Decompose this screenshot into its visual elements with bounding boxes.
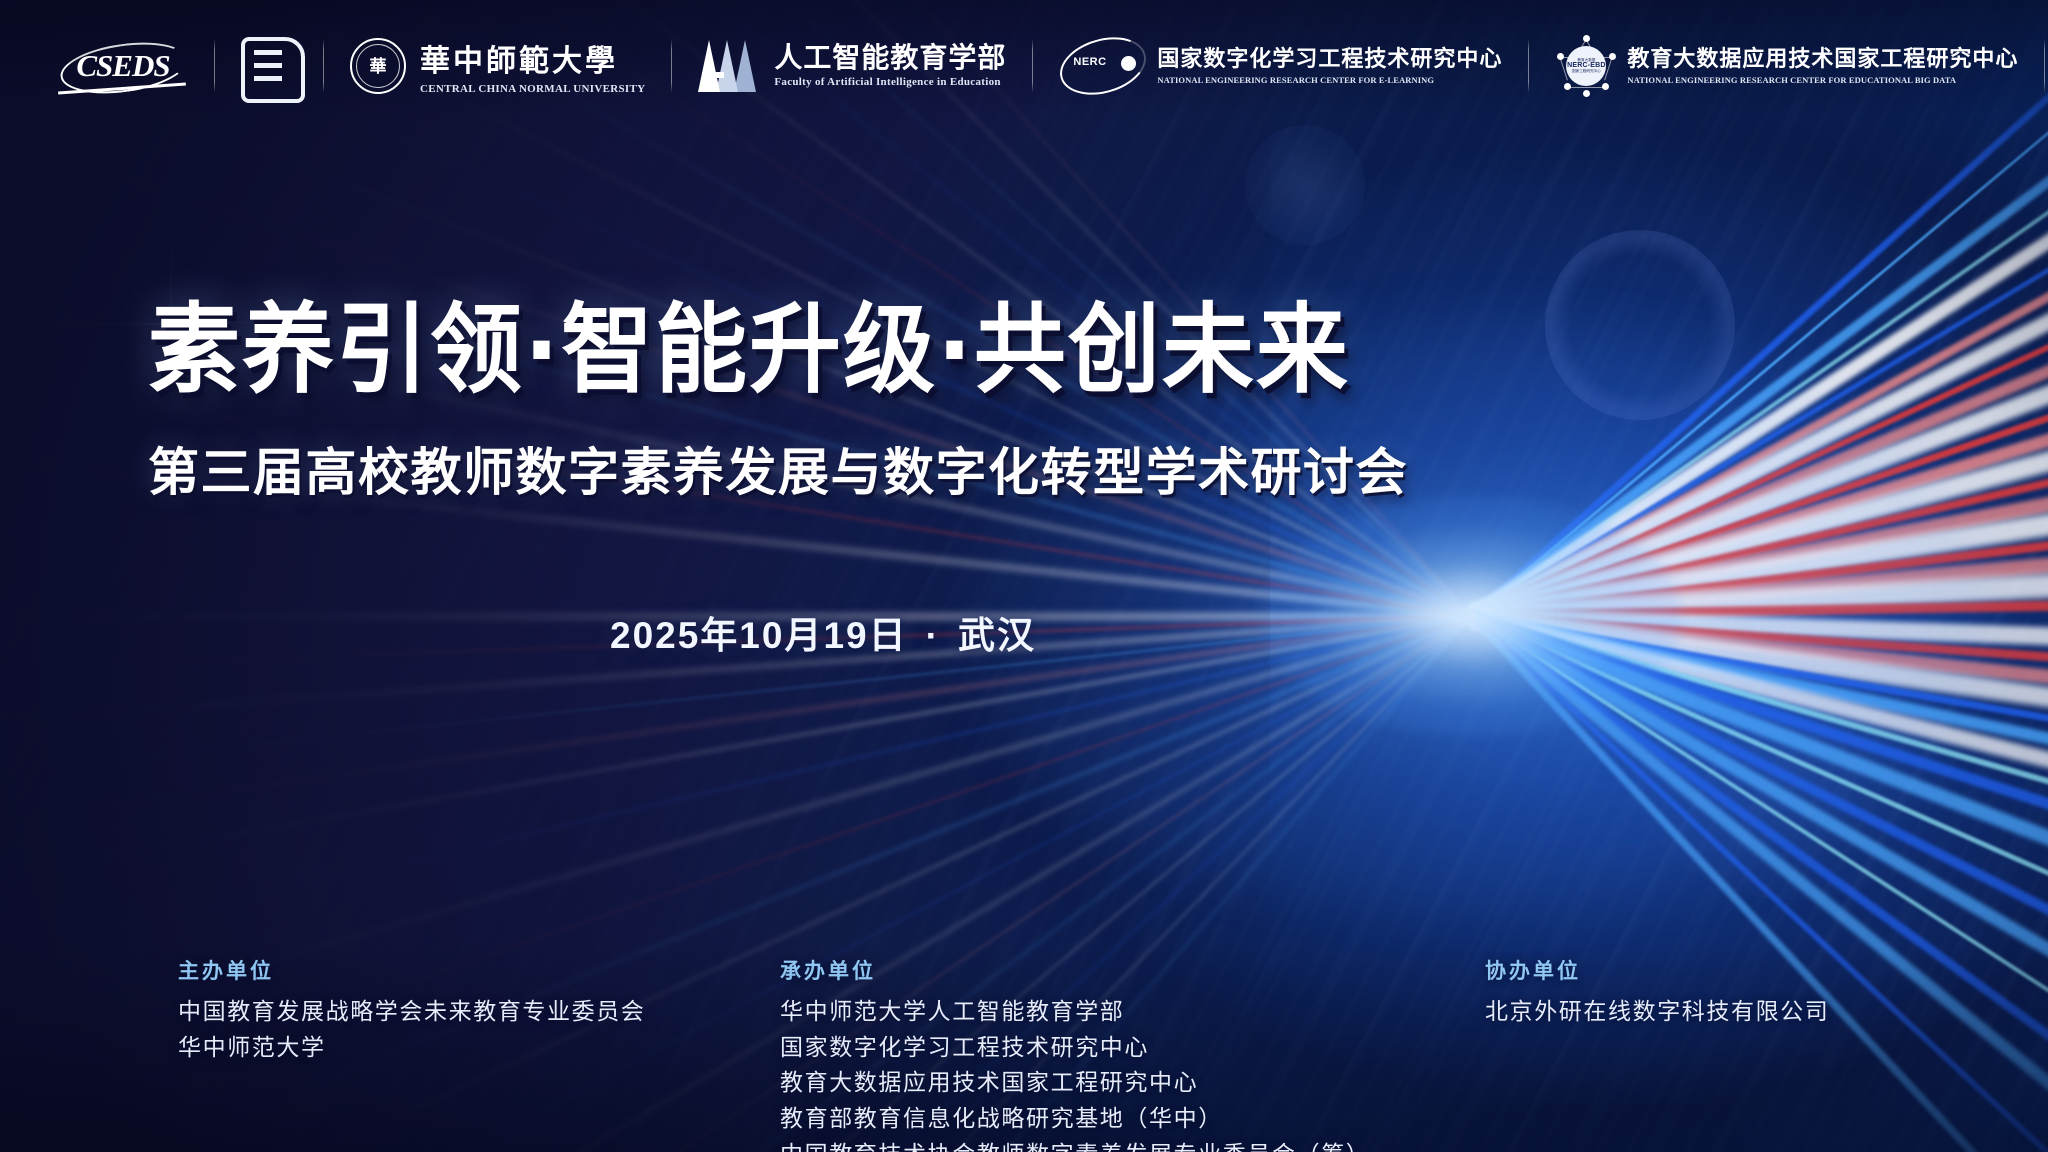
host-organization-block: 主办单位 中国教育发展战略学会未来教育专业委员会 华中师范大学	[178, 955, 645, 1065]
nerc-ebd-name-cn: 教育大数据应用技术国家工程研究中心	[1627, 47, 2018, 71]
logo-divider	[671, 39, 672, 93]
cseds-wordmark-text: CSEDS	[76, 48, 169, 84]
sponsor-logo-bar: CSEDS 華 華中師範大學 CENTRAL CHINA NORMAL UNIV…	[0, 0, 2048, 132]
logo-cseds: CSEDS	[58, 38, 188, 94]
organizer-label: 承办单位	[780, 955, 1370, 985]
nerco-name-en: NATIONAL ENGINEERING RESEARCH CENTER FOR…	[1157, 75, 1502, 85]
organizer-line: 国家数字化学习工程技术研究中心	[780, 1030, 1370, 1066]
nerc-ebd-mark-sub-bottom: 国家工程研究中心	[1572, 70, 1601, 74]
nerc-ebd-name-en: NATIONAL ENGINEERING RESEARCH CENTER FOR…	[1627, 75, 2018, 85]
host-line: 华中师范大学	[178, 1030, 645, 1066]
faie-name-cn: 人工智能教育学部	[774, 43, 1006, 74]
organizer-block: 承办单位 华中师范大学人工智能教育学部 国家数字化学习工程技术研究中心 教育大数…	[780, 955, 1370, 1152]
fei-bracket-icon	[241, 37, 297, 95]
headline-block: 素养引领·智能升级·共创未来 第三届高校教师数字素养发展与数字化转型学术研讨会	[148, 300, 1408, 505]
organizer-line: 教育大数据应用技术国家工程研究中心	[780, 1065, 1370, 1101]
organizer-line: 教育部教育信息化战略研究基地（华中）	[780, 1101, 1370, 1137]
logo-nerc-ebd: 教育大数据 NERC-EBD 国家工程研究中心 教育大数据应用技术国家工程研究中…	[1555, 35, 2018, 97]
event-date-location: 2025年10月19日·武汉	[610, 605, 1036, 659]
event-separator: ·	[926, 615, 940, 656]
logo-divider	[2044, 39, 2045, 93]
coorganizer-line: 北京外研在线数字科技有限公司	[1485, 994, 1829, 1030]
cseds-wordmark-icon: CSEDS	[58, 38, 188, 94]
coorganizer-label: 协办单位	[1485, 955, 1829, 985]
nerco-ellipse-icon: NERC	[1059, 39, 1147, 93]
ccnu-name-cn: 華中師範大學	[420, 36, 645, 80]
nerco-name-cn: 国家数字化学习工程技术研究中心	[1157, 47, 1502, 71]
organizer-line: 华中师范大学人工智能教育学部	[780, 994, 1370, 1030]
ccnu-name-en: CENTRAL CHINA NORMAL UNIVERSITY	[420, 83, 645, 96]
sub-title: 第三届高校教师数字素养发展与数字化转型学术研讨会	[148, 431, 1408, 505]
logo-nerco: NERC 国家数字化学习工程技术研究中心 NATIONAL ENGINEERIN…	[1059, 39, 1502, 93]
host-label: 主办单位	[178, 955, 645, 985]
network-node-icon: 教育大数据 NERC-EBD 国家工程研究中心	[1555, 35, 1617, 97]
logo-ccnu: 華 華中師範大學 CENTRAL CHINA NORMAL UNIVERSITY	[350, 36, 645, 96]
logo-divider	[214, 39, 215, 93]
event-date: 2025年10月19日	[610, 615, 908, 656]
organizer-line: 中国教育技术协会教师数字素养发展专业委员会（筹）	[780, 1137, 1370, 1152]
faie-name-en: Faculty of Artificial Intelligence in Ed…	[774, 76, 1006, 89]
ai-triangles-icon	[698, 40, 760, 92]
event-location: 武汉	[958, 615, 1036, 656]
main-title: 素养引领·智能升级·共创未来	[148, 300, 1408, 402]
nerco-mark-label: NERC	[1073, 56, 1106, 68]
coorganizer-block: 协办单位 北京外研在线数字科技有限公司	[1485, 955, 1829, 1030]
logo-faie: 人工智能教育学部 Faculty of Artificial Intellige…	[698, 40, 1006, 92]
logo-divider	[1528, 39, 1529, 93]
logo-fei	[241, 37, 297, 95]
conference-poster: CSEDS 華 華中師範大學 CENTRAL CHINA NORMAL UNIV…	[0, 0, 2048, 1152]
logo-divider	[1032, 39, 1033, 93]
ccnu-seal-glyph: 華	[370, 58, 387, 75]
host-line: 中国教育发展战略学会未来教育专业委员会	[178, 994, 645, 1030]
ccnu-seal-icon: 華	[350, 38, 406, 94]
logo-divider	[323, 39, 324, 93]
